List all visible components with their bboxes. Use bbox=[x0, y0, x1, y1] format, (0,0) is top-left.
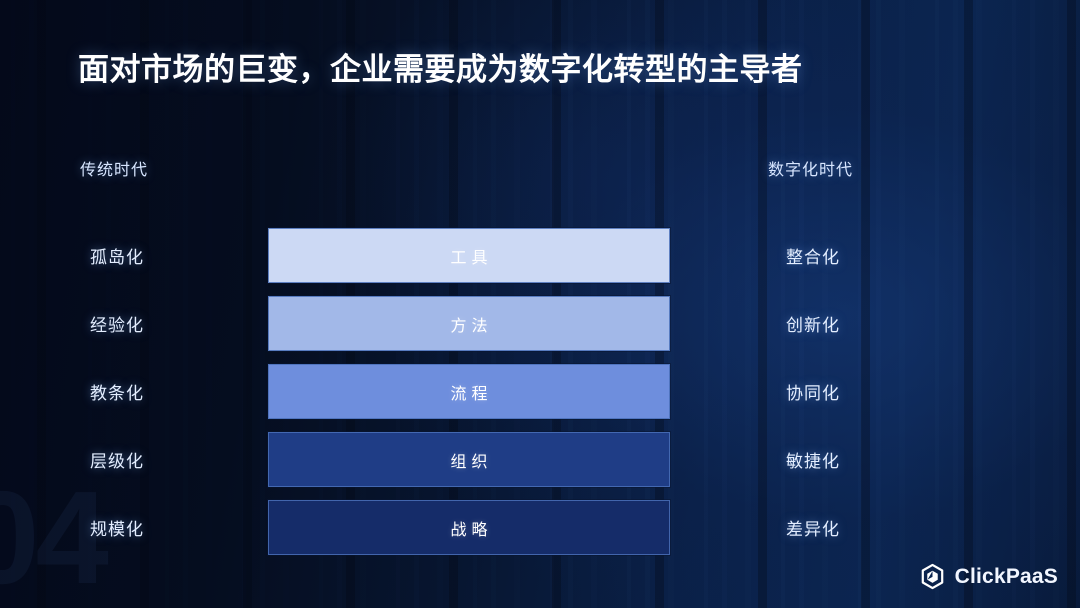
traditional-label: 孤岛化 bbox=[90, 228, 144, 283]
page-title: 面对市场的巨变，企业需要成为数字化转型的主导者 bbox=[78, 44, 803, 89]
comparison-row: 孤岛化 工具 整合化 bbox=[0, 228, 1080, 283]
layer-bar-tool[interactable]: 工具 bbox=[268, 228, 670, 283]
digital-label: 敏捷化 bbox=[786, 432, 840, 487]
comparison-row: 层级化 组织 敏捷化 bbox=[0, 432, 1080, 487]
column-header-traditional: 传统时代 bbox=[80, 156, 148, 180]
layer-bar-process[interactable]: 流程 bbox=[268, 364, 670, 419]
comparison-row: 教条化 流程 协同化 bbox=[0, 364, 1080, 419]
layer-bar-label: 组织 bbox=[445, 448, 492, 472]
layer-bar-label: 战略 bbox=[445, 516, 492, 540]
digital-label: 差异化 bbox=[786, 500, 840, 555]
comparison-row: 经验化 方法 创新化 bbox=[0, 296, 1080, 351]
traditional-label: 经验化 bbox=[90, 296, 144, 351]
slide-canvas: 04 面对市场的巨变，企业需要成为数字化转型的主导者 传统时代 数字化时代 孤岛… bbox=[0, 0, 1080, 608]
traditional-label: 层级化 bbox=[90, 432, 144, 487]
traditional-label: 教条化 bbox=[90, 364, 144, 419]
layer-bar-organization[interactable]: 组织 bbox=[268, 432, 670, 487]
brand-logo-text: ClickPaaS bbox=[955, 565, 1058, 589]
layer-bar-label: 流程 bbox=[445, 380, 492, 404]
comparison-rows: 孤岛化 工具 整合化 经验化 方法 创新化 教条化 流程 协同化 层级化 组织 bbox=[0, 228, 1080, 555]
layer-bar-label: 方法 bbox=[445, 312, 492, 336]
traditional-label: 规模化 bbox=[90, 500, 144, 555]
column-header-digital: 数字化时代 bbox=[768, 156, 853, 180]
digital-label: 创新化 bbox=[786, 296, 840, 351]
layer-bar-strategy[interactable]: 战略 bbox=[268, 500, 670, 555]
digital-label: 协同化 bbox=[786, 364, 840, 419]
clickpaas-hexagon-icon bbox=[919, 563, 946, 590]
digital-label: 整合化 bbox=[786, 228, 840, 283]
layer-bar-label: 工具 bbox=[445, 244, 492, 268]
brand-logo[interactable]: ClickPaaS bbox=[919, 563, 1058, 590]
comparison-row: 规模化 战略 差异化 bbox=[0, 500, 1080, 555]
layer-bar-method[interactable]: 方法 bbox=[268, 296, 670, 351]
